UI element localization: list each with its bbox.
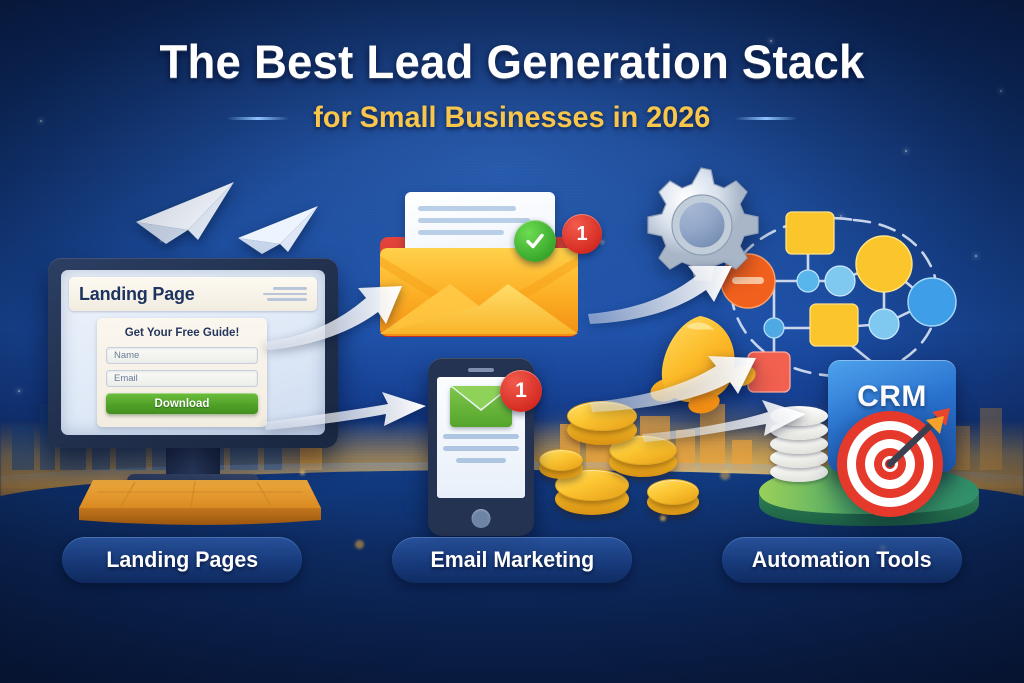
download-button[interactable]: Download <box>106 393 258 414</box>
phone-text-line <box>443 446 519 451</box>
phone-text-line <box>443 434 519 439</box>
envelope-front <box>380 244 578 338</box>
phone-speaker <box>468 368 494 372</box>
database-icon <box>770 404 828 482</box>
header-block: The Best Lead Generation Stack for Small… <box>0 34 1024 135</box>
label-text: Email Marketing <box>430 547 594 573</box>
page-title: The Best Lead Generation Stack <box>15 34 1008 89</box>
phone-text-line <box>456 458 506 463</box>
email-notification-badge: 1 <box>562 214 602 254</box>
mobile-phone-icon: 1 <box>428 358 534 536</box>
email-notification-count: 1 <box>576 223 587 246</box>
email-envelope-icon: 1 <box>372 192 587 350</box>
infographic-canvas: The Best Lead Generation Stack for Small… <box>0 0 1024 683</box>
target-icon <box>834 404 952 522</box>
label-automation-tools[interactable]: Automation Tools <box>722 537 962 583</box>
header-placeholder-lines <box>263 287 307 301</box>
landing-page-title: Landing Page <box>79 284 195 305</box>
email-field[interactable]: Email <box>106 370 258 387</box>
label-text: Automation Tools <box>752 547 932 573</box>
name-field[interactable]: Name <box>106 347 258 364</box>
landing-page-header: Landing Page <box>69 277 317 311</box>
email-verified-badge <box>514 220 556 262</box>
name-placeholder: Name <box>114 350 139 361</box>
label-email-marketing[interactable]: Email Marketing <box>392 537 632 583</box>
category-labels: Landing Pages Email Marketing Automation… <box>0 537 1024 595</box>
phone-notification-badge: 1 <box>500 370 542 412</box>
check-icon <box>524 230 546 252</box>
page-subtitle: for Small Businesses in 2026 <box>314 101 711 135</box>
monitor-screen: Landing Page Get Your Free Guide! Name E… <box>61 270 325 435</box>
gear-icon <box>638 164 764 290</box>
label-landing-pages[interactable]: Landing Pages <box>62 537 302 583</box>
label-text: Landing Pages <box>106 547 258 573</box>
phone-notification-count: 1 <box>515 379 527 403</box>
crm-cluster: CRM <box>760 352 975 532</box>
download-button-label: Download <box>155 398 210 410</box>
form-heading: Get Your Free Guide! <box>106 327 258 339</box>
decorative-dash-right <box>735 117 797 120</box>
decorative-dash-left <box>227 117 289 120</box>
landing-page-monitor: Landing Page Get Your Free Guide! Name E… <box>48 258 338 448</box>
coins-icon <box>535 385 700 535</box>
phone-home-button[interactable] <box>472 509 491 528</box>
email-placeholder: Email <box>114 373 138 384</box>
subtitle-row: for Small Businesses in 2026 <box>0 101 1024 135</box>
wooden-platform <box>75 470 325 528</box>
lead-capture-form: Get Your Free Guide! Name Email Download <box>97 318 267 427</box>
